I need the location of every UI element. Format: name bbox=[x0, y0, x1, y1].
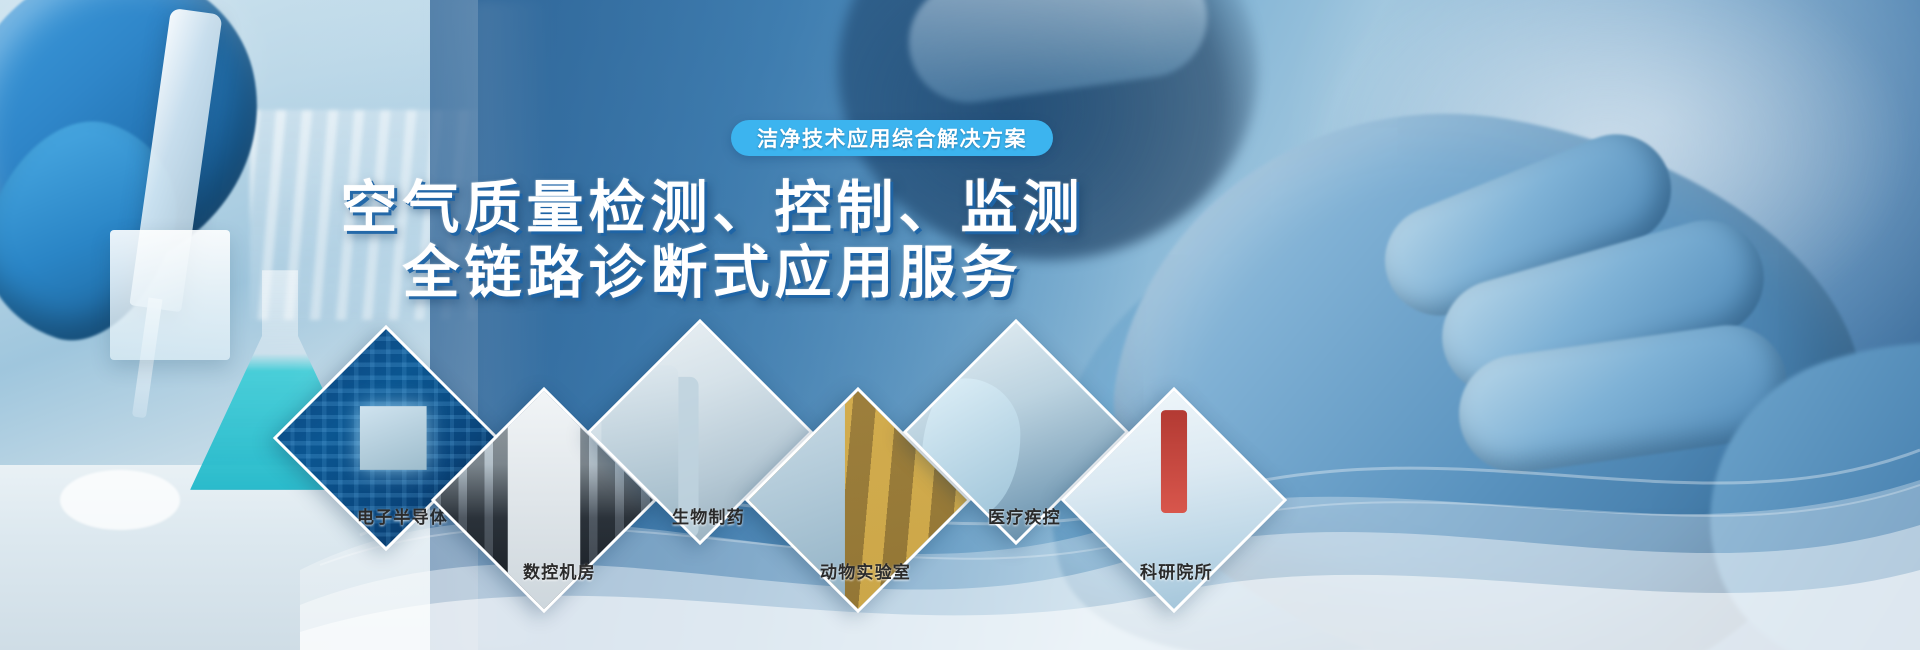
industry-card-label-animal-lab: 动物实验室 bbox=[820, 558, 911, 583]
industry-card-label-medical: 医疗疾控 bbox=[988, 503, 1061, 528]
industry-card-label-datacenter: 数控机房 bbox=[523, 558, 596, 583]
industry-card-row: 电子半导体 数控机房 生物制药 动物实验室 医疗疾控 科研院所 bbox=[0, 0, 1920, 650]
industry-card-label-research: 科研院所 bbox=[1140, 558, 1213, 583]
industry-card-label-pharma: 生物制药 bbox=[672, 503, 745, 528]
hero-banner: 洁净技术应用综合解决方案 空气质量检测、控制、监测 全链路诊断式应用服务 电子半… bbox=[0, 0, 1920, 650]
industry-card-label-electronics: 电子半导体 bbox=[357, 503, 448, 528]
